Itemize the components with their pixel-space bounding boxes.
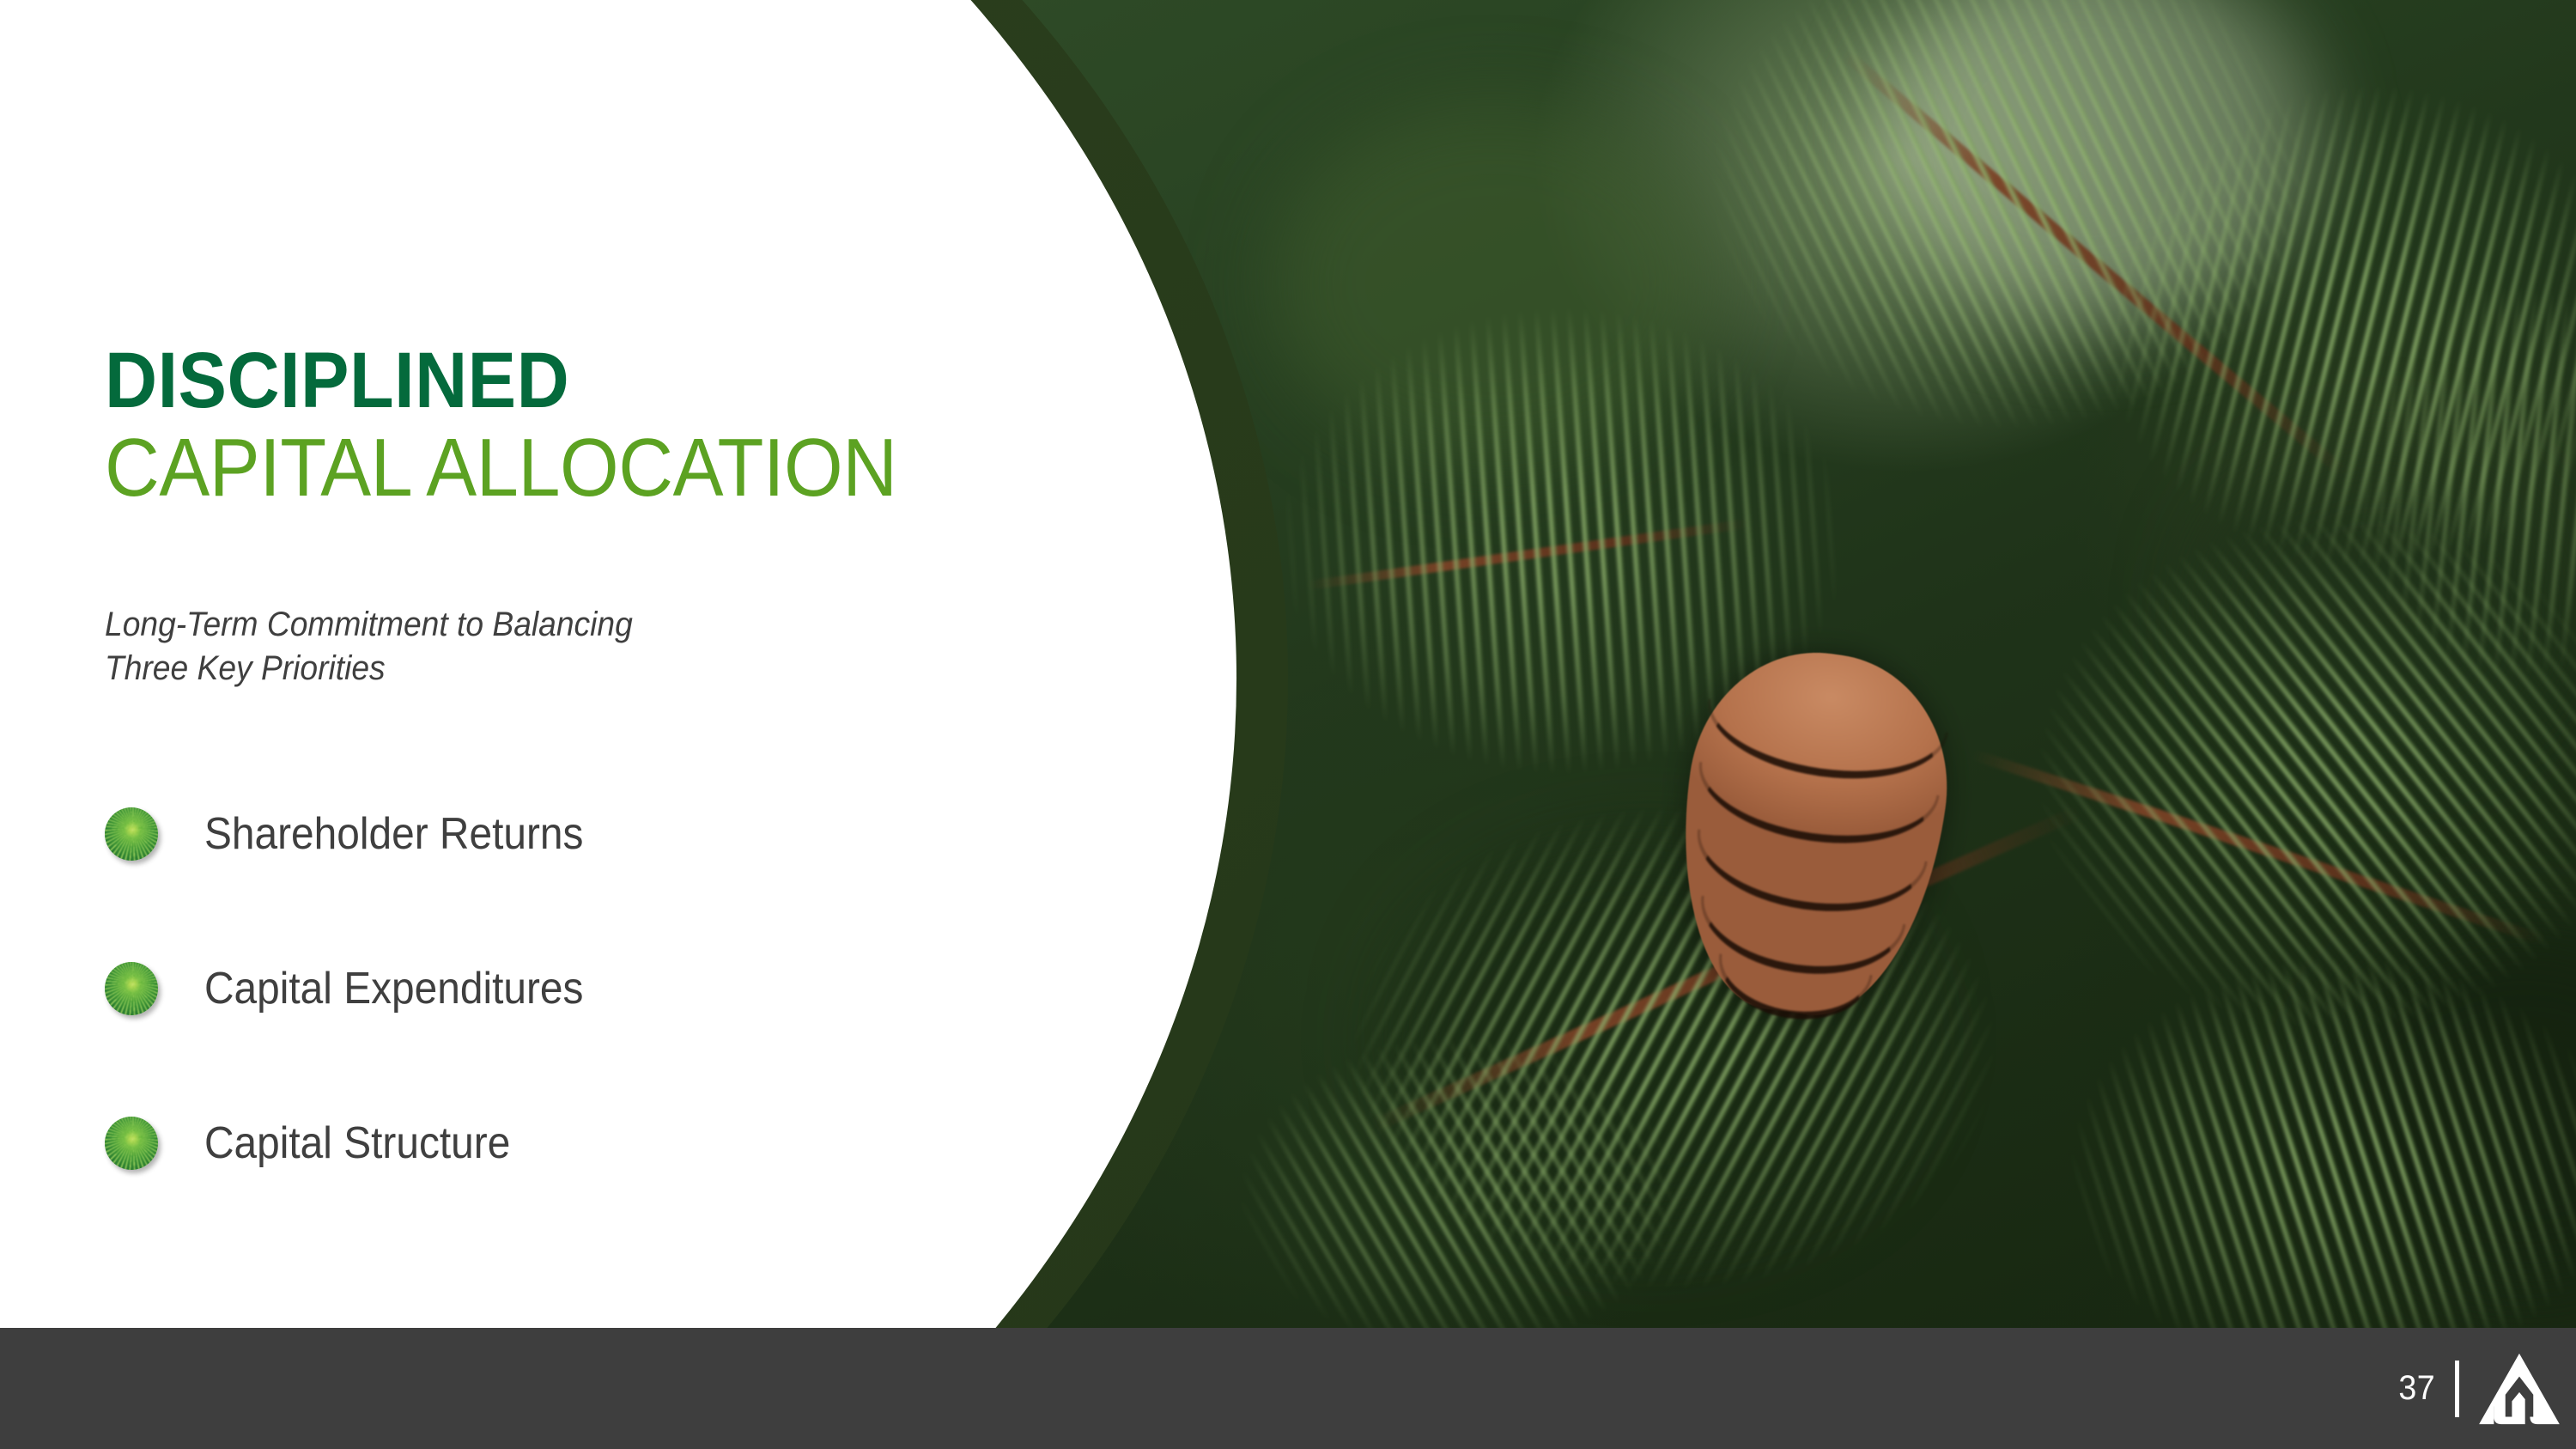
pine-needle-circle-icon: [105, 962, 158, 1015]
title-line-capital-allocation: CAPITAL ALLOCATION: [105, 426, 897, 510]
title-line-disciplined: DISCIPLINED: [105, 342, 897, 419]
slide-footer: 37: [0, 1328, 2576, 1449]
pine-needle-circle-icon: [105, 807, 158, 861]
footer-right-group: 37: [2397, 1328, 2561, 1449]
priorities-list: Shareholder Returns Capital Expenditures…: [105, 807, 617, 1170]
triangle-arrow-brand-logo: [2478, 1352, 2561, 1426]
slide-subtitle: Long-Term Commitment to Balancing Three …: [105, 603, 633, 691]
list-item: Capital Expenditures: [105, 962, 617, 1015]
list-item-label: Capital Structure: [204, 1121, 510, 1166]
footer-divider: [2455, 1361, 2459, 1417]
page-number: 37: [2398, 1369, 2435, 1408]
presentation-slide: DISCIPLINED CAPITAL ALLOCATION Long-Term…: [0, 0, 2576, 1449]
slide-content: DISCIPLINED CAPITAL ALLOCATION Long-Term…: [0, 0, 1219, 1328]
page-title: DISCIPLINED CAPITAL ALLOCATION: [105, 342, 966, 510]
list-item: Shareholder Returns: [105, 807, 617, 861]
list-item-label: Capital Expenditures: [204, 966, 583, 1011]
list-item-label: Shareholder Returns: [204, 812, 583, 856]
pine-needle-circle-icon: [105, 1117, 158, 1170]
list-item: Capital Structure: [105, 1117, 617, 1170]
